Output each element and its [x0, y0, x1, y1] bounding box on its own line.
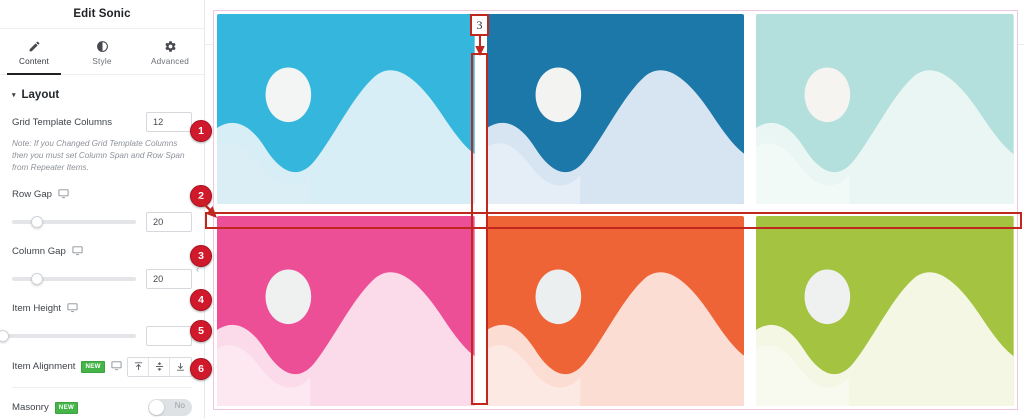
- tab-advanced-label: Advanced: [151, 57, 189, 66]
- grid-card[interactable]: [217, 216, 475, 406]
- monitor-icon[interactable]: [67, 302, 78, 316]
- editor-sidebar: Edit Sonic Content Style: [0, 0, 205, 418]
- row-gap-slider-thumb[interactable]: [31, 216, 43, 228]
- item-height-slider[interactable]: [3, 334, 136, 338]
- grid-template-columns-note: Note: If you Changed Grid Template Colum…: [0, 133, 204, 174]
- toggle-knob: [149, 400, 164, 415]
- contrast-icon: [96, 40, 109, 53]
- column-gap-slider-thumb[interactable]: [31, 273, 43, 285]
- divider: [12, 387, 192, 388]
- align-middle-icon[interactable]: [149, 358, 170, 376]
- grid-template-columns-field: Grid Template Columns 12: [0, 111, 204, 133]
- masonry-field: Masonry NEW No: [0, 397, 204, 418]
- new-badge: NEW: [81, 361, 104, 373]
- grid-card[interactable]: [487, 216, 745, 406]
- row-gap-label: Row Gap: [12, 188, 69, 202]
- item-alignment-group: [127, 357, 192, 377]
- placeholder-image-icon: [487, 14, 745, 204]
- masonry-toggle-state: No: [175, 401, 185, 410]
- tab-style-label: Style: [92, 57, 111, 66]
- chevron-left-icon[interactable]: ‹: [196, 264, 199, 274]
- monitor-icon[interactable]: [72, 245, 83, 259]
- item-height-input[interactable]: [146, 326, 192, 346]
- gear-icon: [164, 40, 177, 53]
- masonry-label: Masonry NEW: [12, 402, 78, 414]
- grid-card[interactable]: [756, 216, 1014, 406]
- item-alignment-field: Item Alignment NEW: [0, 356, 204, 378]
- placeholder-image-icon: [756, 216, 1014, 406]
- repeater-grid: [217, 14, 1014, 406]
- placeholder-image-icon: [756, 14, 1014, 204]
- align-top-icon[interactable]: [128, 358, 149, 376]
- item-height-field: Item Height: [0, 298, 204, 348]
- column-gap-slider[interactable]: [12, 277, 136, 281]
- item-height-label: Item Height: [12, 302, 78, 316]
- tab-style[interactable]: Style: [68, 29, 136, 74]
- masonry-toggle[interactable]: No: [148, 399, 192, 416]
- item-height-slider-thumb[interactable]: [0, 330, 9, 342]
- placeholder-image-icon: [487, 216, 745, 406]
- new-badge: NEW: [55, 402, 78, 414]
- grid-card[interactable]: [217, 14, 475, 204]
- pencil-icon: [28, 40, 41, 53]
- grid-card[interactable]: [487, 14, 745, 204]
- tab-advanced[interactable]: Advanced: [136, 29, 204, 74]
- repeater-grid-container: [213, 10, 1018, 410]
- column-gap-input[interactable]: 20: [146, 269, 192, 289]
- preview-area: Test Site: [205, 0, 1024, 418]
- panel-title: Edit Sonic: [0, 0, 204, 28]
- placeholder-image-icon: [217, 216, 475, 406]
- row-gap-field: Row Gap 20: [0, 184, 204, 234]
- grid-template-columns-label: Grid Template Columns: [12, 117, 112, 128]
- chevron-down-icon: ▾: [12, 92, 16, 99]
- tab-content[interactable]: Content: [0, 29, 68, 74]
- grid-card[interactable]: [756, 14, 1014, 204]
- column-gap-label: Column Gap: [12, 245, 83, 259]
- tab-content-label: Content: [19, 57, 49, 66]
- placeholder-image-icon: [217, 14, 475, 204]
- section-layout-header[interactable]: ▾ Layout: [0, 75, 204, 109]
- section-layout-label: Layout: [22, 89, 60, 101]
- item-alignment-label: Item Alignment NEW: [12, 360, 122, 374]
- grid-template-columns-input[interactable]: 12: [146, 112, 192, 132]
- panel-tabs: Content Style Advanced: [0, 28, 204, 75]
- row-gap-input[interactable]: 20: [146, 212, 192, 232]
- monitor-icon[interactable]: [111, 360, 122, 374]
- monitor-icon[interactable]: [58, 188, 69, 202]
- align-bottom-icon[interactable]: [170, 358, 191, 376]
- column-gap-field: Column Gap 20: [0, 241, 204, 291]
- row-gap-slider[interactable]: [12, 220, 136, 224]
- editor-screen: Edit Sonic Content Style: [0, 0, 1024, 418]
